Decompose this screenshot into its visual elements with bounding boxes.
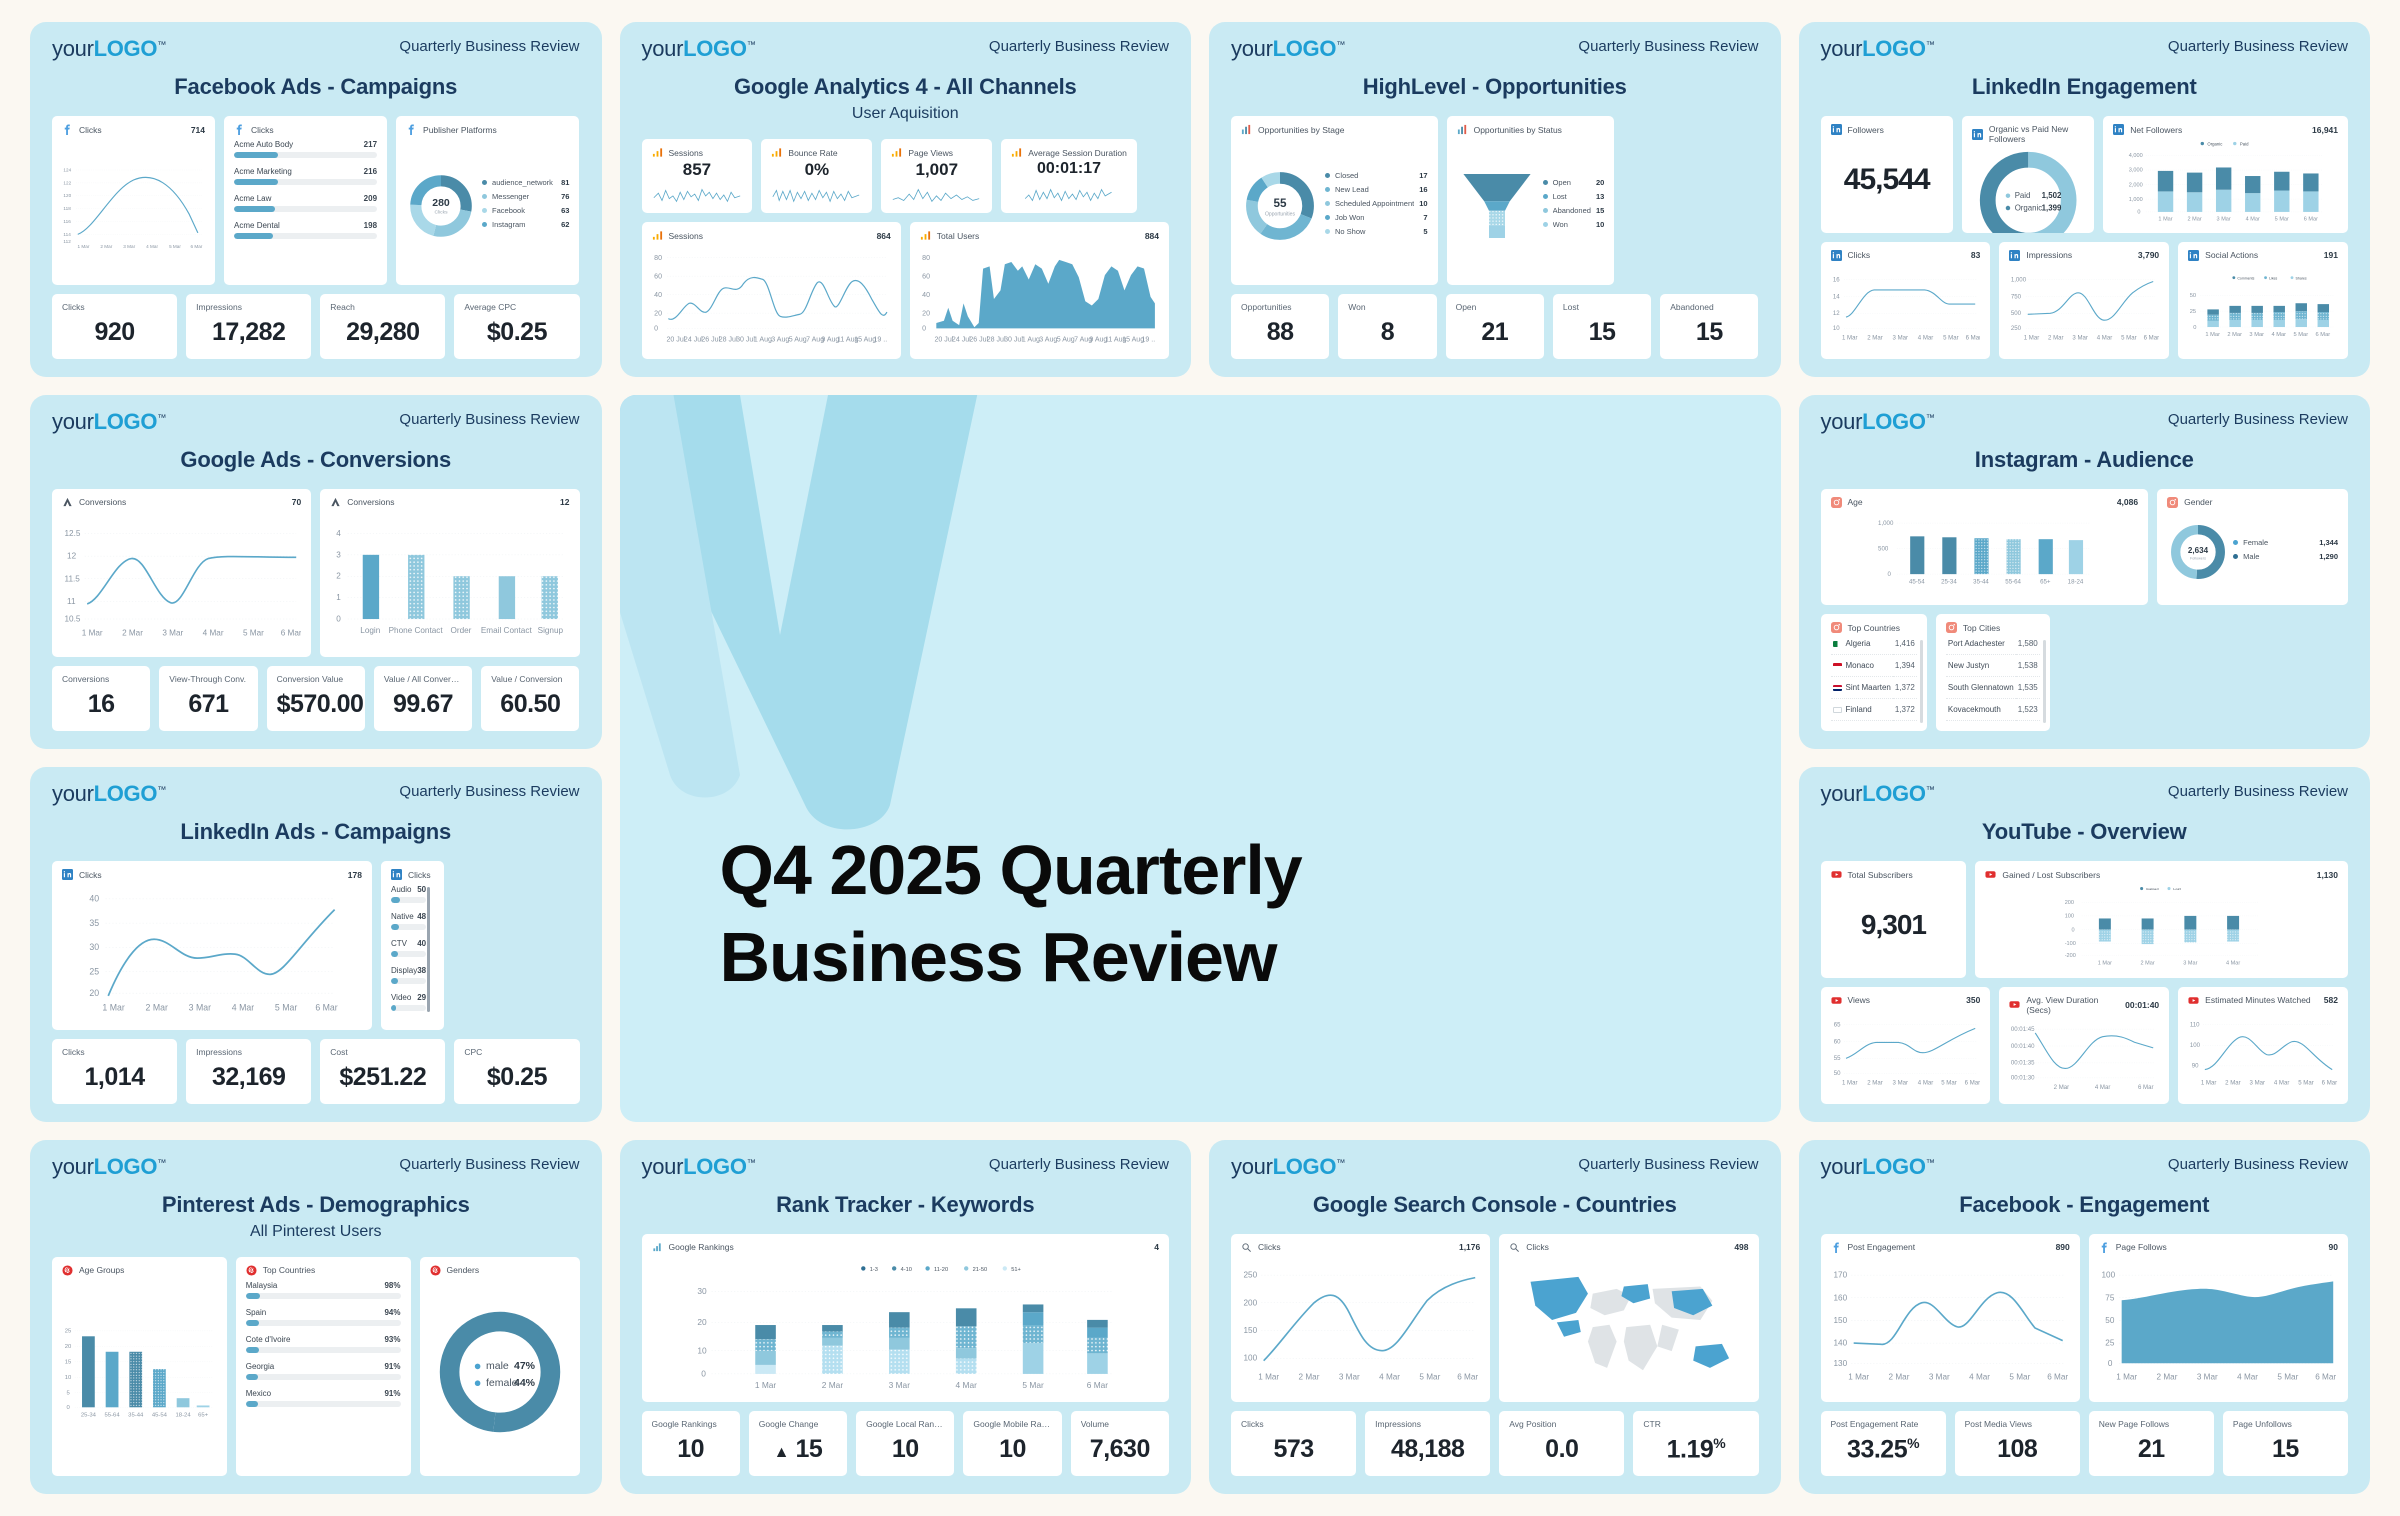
card-header: yourLOGO™ Quarterly Business Review bbox=[1821, 38, 2349, 60]
card-highlevel-opportunities[interactable]: yourLOGO™ Quarterly Business Review High… bbox=[1209, 22, 1781, 377]
kpi-row: Clicks920 Impressions17,282 Reach29,280 … bbox=[52, 294, 580, 359]
panel-value: 890 bbox=[2056, 1242, 2070, 1252]
kpi-label: Post Media Views bbox=[1965, 1419, 2070, 1429]
svg-text:00:01:40: 00:01:40 bbox=[2011, 1043, 2035, 1050]
kpi-value: 48,188 bbox=[1375, 1435, 1480, 1464]
report-label: Quarterly Business Review bbox=[2168, 38, 2348, 55]
kpi-value: 671 bbox=[169, 690, 247, 719]
card-google-search-console-countries[interactable]: yourLOGO™ Quarterly Business Review Goog… bbox=[1209, 1140, 1781, 1495]
svg-text:130: 130 bbox=[1833, 1358, 1847, 1367]
kpi-tile[interactable]: Clicks920 bbox=[52, 294, 177, 359]
panel-title: Top Countries bbox=[263, 1265, 315, 1275]
card-header: yourLOGO™ Quarterly Business Review bbox=[1231, 1156, 1759, 1178]
svg-text:1,000: 1,000 bbox=[1878, 520, 1894, 527]
panel-sessions-line[interactable]: Sessions864 806040200 20 Jul24 Jul26 Jul… bbox=[642, 222, 901, 359]
svg-text:250: 250 bbox=[2011, 325, 2022, 332]
svg-text:6 Mar: 6 Mar bbox=[2304, 216, 2318, 222]
instagram-icon bbox=[1831, 622, 1842, 633]
legend-label: Likes bbox=[2269, 276, 2277, 280]
svg-text:5 Mar: 5 Mar bbox=[169, 244, 181, 249]
legend-value: 10 bbox=[1419, 199, 1427, 208]
pinterest-icon bbox=[62, 1265, 73, 1276]
legend-label: Male bbox=[2243, 552, 2314, 561]
total-users-area-chart: 806040200 20 Jul24 Jul26 Jul28 Jul30 Jul… bbox=[920, 241, 1159, 351]
svg-text:2 Mar: 2 Mar bbox=[821, 1380, 843, 1390]
panel-row: Google Rankings4 1-3 4-10 11-20 21-50 51… bbox=[642, 1234, 1170, 1403]
kpi-label: CPC bbox=[464, 1047, 569, 1057]
svg-text:6 Mar: 6 Mar bbox=[315, 1003, 337, 1013]
kpi-tile[interactable]: Opportunities88 bbox=[1231, 294, 1329, 359]
svg-text:5 Mar: 5 Mar bbox=[275, 1003, 297, 1013]
kpi-tile[interactable]: Open21 bbox=[1446, 294, 1544, 359]
svg-text:55-64: 55-64 bbox=[2005, 578, 2021, 585]
panel-conversions-bars[interactable]: Conversions12 43210 LoginPhone ContactOr… bbox=[320, 489, 579, 658]
svg-text:3 Mar: 3 Mar bbox=[2197, 1372, 2218, 1381]
kpi-tile[interactable]: Avg Position0.0 bbox=[1499, 1411, 1624, 1476]
kpi-value: 21 bbox=[1456, 318, 1534, 347]
kpi-label: Avg Position bbox=[1509, 1419, 1614, 1429]
kpi-tile[interactable]: Conversion Value$570.00 bbox=[267, 666, 365, 731]
logo: yourLOGO™ bbox=[52, 411, 166, 433]
panel-clicks-line[interactable]: Clicks 714 124122120 118116114112 bbox=[52, 116, 215, 285]
kpi-label: Page Unfollows bbox=[2233, 1419, 2338, 1429]
kpi-tile[interactable]: Post Engagement Rate33.25% bbox=[1821, 1411, 1946, 1476]
svg-text:1 Mar: 1 Mar bbox=[1841, 1079, 1857, 1086]
svg-text:100: 100 bbox=[1244, 1353, 1258, 1362]
page-subtitle: User Aquisition bbox=[642, 105, 1170, 123]
svg-text:4 Mar: 4 Mar bbox=[1917, 1079, 1933, 1086]
panel-page-views-kpi[interactable]: Page Views 1,007 bbox=[881, 139, 992, 213]
estimated-minutes-line-chart: 11010090 1 Mar2 Mar3 Mar4 Mar5 Mar6 Mar bbox=[2188, 1006, 2338, 1096]
panel-opportunities-by-stage[interactable]: Opportunities by Stage 55 Opportunities … bbox=[1231, 116, 1438, 285]
panel-conversions-line[interactable]: Conversions70 12.51211.51110.5 1 Mar2 Ma… bbox=[52, 489, 311, 658]
panel-clicks-bars[interactable]: Clicks Acme Auto Body217 Acme Marketing2… bbox=[224, 116, 387, 285]
legend-label: New Lead bbox=[1335, 185, 1414, 194]
panel-gender-donut[interactable]: Gender 2,634 Followers Female1,344 Male1… bbox=[2157, 489, 2348, 606]
card-google-ads-conversions[interactable]: yourLOGO™ Quarterly Business Review Goog… bbox=[30, 395, 602, 750]
kpi-tile[interactable]: Google Rankings10 bbox=[642, 1411, 740, 1476]
svg-text:4 Mar: 4 Mar bbox=[2246, 216, 2260, 222]
svg-text:25-34: 25-34 bbox=[81, 1412, 97, 1418]
legend-label: Scheduled Appointment bbox=[1335, 199, 1414, 208]
donut-center-value: 280 bbox=[432, 197, 450, 209]
kpi-label: Impressions bbox=[1375, 1419, 1480, 1429]
kpi-tile[interactable]: Post Media Views108 bbox=[1955, 1411, 2080, 1476]
linkedin-icon bbox=[2188, 250, 2199, 261]
svg-text:3 Mar: 3 Mar bbox=[2250, 1079, 2266, 1086]
panel-value: 90 bbox=[2329, 1242, 2338, 1252]
svg-text:1 Mar: 1 Mar bbox=[2024, 334, 2040, 341]
panel-clicks-bars[interactable]: Clicks Audio50 Native48 CTV40 Display38 … bbox=[381, 861, 444, 1030]
svg-text:3 Mar: 3 Mar bbox=[1892, 1079, 1908, 1086]
panel-publisher-platforms[interactable]: Publisher Platforms 280 Clicks audience_… bbox=[396, 116, 579, 285]
legend-value: 7 bbox=[1423, 213, 1427, 222]
svg-text:4 Mar: 4 Mar bbox=[2097, 334, 2113, 341]
card-instagram-audience[interactable]: yourLOGO™ Quarterly Business Review Inst… bbox=[1799, 395, 2371, 750]
panel-clicks-line[interactable]: Clicks83 16141210 1 Mar2 Mar3 Mar4 Mar5 … bbox=[1821, 242, 1991, 359]
funnel-legend: Open20 Lost13 Abandoned15 Won10 bbox=[1543, 178, 1605, 234]
kpi-tile[interactable]: Abandoned15 bbox=[1660, 294, 1758, 359]
kpi-tile[interactable]: New Page Follows21 bbox=[2089, 1411, 2214, 1476]
bar-label: Cote d'Ivoire bbox=[246, 1335, 291, 1344]
svg-text:1 Mar: 1 Mar bbox=[2116, 1372, 2137, 1381]
panel-title: Conversions bbox=[347, 497, 394, 507]
legend-value: 16 bbox=[1419, 185, 1427, 194]
panel-impressions-line[interactable]: Impressions3,790 1,000750500250 1 Mar2 M… bbox=[1999, 242, 2169, 359]
svg-text:40: 40 bbox=[89, 894, 99, 904]
panel-clicks-line[interactable]: Clicks178 4035302520 1 Mar2 Mar3 Mar4 Ma… bbox=[52, 861, 372, 1030]
country-cell: Algeria bbox=[1831, 633, 1893, 655]
panel-title: Avg. View Duration (Secs) bbox=[2026, 995, 2119, 1015]
panel-social-actions[interactable]: Social Actions191 CommentsLikesShares 50… bbox=[2178, 242, 2348, 359]
kpi-tile[interactable]: Value / Conversion60.50 bbox=[481, 666, 579, 731]
kpi-label: Value / All Conversion bbox=[384, 674, 462, 684]
bar-label: Georgia bbox=[246, 1362, 274, 1371]
panel-estimated-minutes-watched[interactable]: Estimated Minutes Watched582 11010090 1 … bbox=[2178, 987, 2348, 1104]
scrollbar[interactable] bbox=[427, 887, 430, 1012]
svg-text:30: 30 bbox=[697, 1286, 707, 1296]
svg-text:2: 2 bbox=[337, 571, 342, 580]
svg-text:4,000: 4,000 bbox=[2129, 153, 2143, 159]
panel-value: 857 bbox=[652, 160, 743, 180]
kpi-label: CTR bbox=[1643, 1419, 1748, 1429]
kpi-tile[interactable]: Average CPC$0.25 bbox=[454, 294, 579, 359]
legend-label: Closed bbox=[1335, 171, 1414, 180]
facebook-icon bbox=[234, 124, 245, 135]
svg-text:5 Mar: 5 Mar bbox=[2009, 1372, 2030, 1381]
svg-text:6 Mar: 6 Mar bbox=[2144, 334, 2159, 341]
gender-donut: 2,634 Followers bbox=[2167, 521, 2229, 583]
svg-text:-100: -100 bbox=[2065, 941, 2076, 947]
legend-value: 76 bbox=[561, 192, 569, 201]
world-map bbox=[1509, 1253, 1748, 1394]
report-label: Quarterly Business Review bbox=[399, 783, 579, 800]
kpi-row: Opportunities88 Won8 Open21 Lost15 Aband… bbox=[1231, 294, 1759, 359]
panel-avg-view-duration-line[interactable]: Avg. View Duration (Secs)00:01:40 00:01:… bbox=[1999, 987, 2169, 1104]
panel-value: 4 bbox=[1154, 1242, 1159, 1252]
panel-page-follows-area[interactable]: Page Follows90 1007550250 1 Mar2 Mar3 Ma… bbox=[2089, 1234, 2348, 1402]
svg-text:1 Mar: 1 Mar bbox=[102, 1003, 124, 1013]
panel-genders-donut[interactable]: Genders male47% female44% bbox=[420, 1257, 580, 1477]
facebook-icon bbox=[1831, 1242, 1842, 1253]
panel-top-cities-table[interactable]: Top Cities Port Adachester1,580 New Just… bbox=[1936, 614, 2050, 731]
kpi-value: 99.67 bbox=[384, 690, 462, 719]
panel-title: Clicks bbox=[251, 125, 274, 135]
card-pinterest-ads-demographics[interactable]: yourLOGO™ Quarterly Business Review Pint… bbox=[30, 1140, 602, 1495]
svg-text:2 Mar: 2 Mar bbox=[1867, 334, 1883, 341]
donut-center-value: 55 bbox=[1273, 197, 1287, 210]
bar-value: 217 bbox=[364, 140, 377, 149]
sessions-line-chart: 806040200 20 Jul24 Jul26 Jul28 Jul30 Jul… bbox=[652, 241, 891, 351]
panel-clicks-line[interactable]: Clicks1,176 250200150100 1 Mar2 Mar3 Mar… bbox=[1231, 1234, 1490, 1402]
kpi-tile[interactable]: Clicks1,014 bbox=[52, 1039, 177, 1104]
svg-text:4 Mar: 4 Mar bbox=[2274, 1079, 2290, 1086]
kpi-value: 10 bbox=[973, 1435, 1051, 1464]
panel-organic-vs-paid[interactable]: Organic vs Paid New Followers Paid1,502 … bbox=[1962, 116, 2094, 233]
kpi-label: Impressions bbox=[196, 302, 301, 312]
card-youtube-overview[interactable]: yourLOGO™ Quarterly Business Review YouT… bbox=[1799, 767, 2371, 1122]
svg-text:1 Mar: 1 Mar bbox=[754, 1380, 776, 1390]
kpi-tile[interactable]: Lost15 bbox=[1553, 294, 1651, 359]
list-item: Malaysia98% bbox=[246, 1281, 401, 1299]
bar-value: 93% bbox=[384, 1335, 400, 1344]
svg-text:60: 60 bbox=[654, 273, 662, 280]
kpi-tile[interactable]: Google Change▲ 15 bbox=[749, 1411, 847, 1476]
svg-text:35: 35 bbox=[89, 918, 99, 928]
card-facebook-ads-campaigns[interactable]: yourLOGO™ Quarterly Business Review Face… bbox=[30, 22, 602, 377]
svg-text:10: 10 bbox=[65, 1375, 72, 1381]
svg-text:2 Mar: 2 Mar bbox=[1299, 1372, 1320, 1381]
panel-row: Age Groups 2520151050 25-3455-6435-4445-… bbox=[52, 1257, 580, 1477]
page-subtitle: All Pinterest Users bbox=[52, 1223, 580, 1241]
panel-title: Clicks bbox=[1848, 250, 1871, 260]
legend-label: Instagram bbox=[492, 220, 556, 229]
panel-title: Clicks bbox=[1258, 1242, 1281, 1252]
country-cell: Finland bbox=[1831, 699, 1893, 721]
svg-text:3 Mar: 3 Mar bbox=[2073, 334, 2089, 341]
kpi-tile[interactable]: Volume7,630 bbox=[1071, 1411, 1169, 1476]
svg-text:-200: -200 bbox=[2065, 953, 2076, 959]
panel-google-rankings[interactable]: Google Rankings4 1-3 4-10 11-20 21-50 51… bbox=[642, 1234, 1170, 1403]
panel-row: Clicks1,176 250200150100 1 Mar2 Mar3 Mar… bbox=[1231, 1234, 1759, 1402]
list-item: Audio50 bbox=[391, 885, 426, 903]
panel-opportunities-by-status[interactable]: Opportunities by Status Open20 Lost13 Ab… bbox=[1447, 116, 1615, 285]
svg-text:0: 0 bbox=[2193, 325, 2196, 331]
legend-value: 20 bbox=[1596, 178, 1604, 187]
svg-text:1 Mar: 1 Mar bbox=[2159, 216, 2173, 222]
panel-title: Google Rankings bbox=[669, 1242, 734, 1252]
panel-top-countries-table[interactable]: Top Countries Algeria1,416 Monaco1,394 S… bbox=[1821, 614, 1927, 731]
conversions-line-chart: 12.51211.51110.5 1 Mar2 Mar3 Mar4 Mar5 M… bbox=[62, 508, 301, 650]
legend-label: Paid bbox=[2015, 191, 2031, 200]
bar-label: Native bbox=[391, 912, 414, 921]
legend-label: Paid bbox=[2240, 141, 2249, 146]
kpi-value: 16 bbox=[62, 690, 140, 719]
panel-avg-session-duration-kpi[interactable]: Average Session Duration 00:01:17 bbox=[1001, 139, 1137, 213]
svg-text:0: 0 bbox=[2072, 927, 2075, 933]
panel-total-subscribers-kpi[interactable]: Total Subscribers 9,301 bbox=[1821, 861, 1967, 978]
gained-lost-bar-chart: GainedLost 2001000-100-200 1 Mar2 Mar3 M… bbox=[1985, 880, 2338, 970]
legend-value: 1,290 bbox=[2319, 552, 2338, 561]
panel-value: 714 bbox=[191, 125, 205, 135]
panel-value: 1,007 bbox=[891, 160, 982, 180]
panel-sessions-kpi[interactable]: Sessions 857 bbox=[642, 139, 753, 213]
panel-value: 45,544 bbox=[1831, 135, 1943, 225]
kpi-tile[interactable]: View-Through Conv.671 bbox=[159, 666, 257, 731]
legend-label: Organic bbox=[2208, 141, 2224, 146]
svg-text:1 Mar: 1 Mar bbox=[2206, 332, 2221, 338]
panel-gained-lost-subscribers[interactable]: Gained / Lost Subscribers1,130 GainedLos… bbox=[1975, 861, 2348, 978]
bar-label: CTV bbox=[391, 939, 407, 948]
svg-text:30: 30 bbox=[89, 942, 99, 952]
logo: yourLOGO™ bbox=[52, 783, 166, 805]
top-countries-table: Algeria1,416 Monaco1,394 Sint Maarten1,3… bbox=[1831, 633, 1917, 721]
panel-value: 83 bbox=[1971, 250, 1980, 260]
card-rank-tracker-keywords[interactable]: yourLOGO™ Quarterly Business Review Rank… bbox=[620, 1140, 1192, 1495]
panel-views-line[interactable]: Views350 65605550 1 Mar2 Mar3 Mar4 Mar5 … bbox=[1821, 987, 1991, 1104]
panel-title: Opportunities by Status bbox=[1474, 125, 1562, 135]
page-title: Google Analytics 4 - All Channels bbox=[642, 74, 1170, 100]
legend-label: Messenger bbox=[492, 192, 556, 201]
kpi-tile[interactable]: Conversions16 bbox=[52, 666, 150, 731]
card-header: yourLOGO™ Quarterly Business Review bbox=[52, 38, 580, 60]
kpi-label: Google Change bbox=[759, 1419, 837, 1429]
legend-label: 1-3 bbox=[869, 1267, 877, 1273]
svg-text:2 Mar: 2 Mar bbox=[2156, 1372, 2177, 1381]
svg-text:140: 140 bbox=[1833, 1338, 1847, 1347]
hero-title: Q4 2025 QuarterlyBusiness Review bbox=[720, 827, 1400, 1002]
google-ads-icon bbox=[330, 497, 341, 508]
svg-text:120: 120 bbox=[63, 193, 71, 198]
svg-text:4 Mar: 4 Mar bbox=[1917, 334, 1933, 341]
svg-text:114: 114 bbox=[63, 232, 71, 237]
hero-title-panel: Q4 2025 QuarterlyBusiness Review bbox=[620, 395, 1781, 1122]
svg-text:4: 4 bbox=[337, 528, 342, 537]
pinterest-icon bbox=[430, 1265, 441, 1276]
panel-bounce-rate-kpi[interactable]: Bounce Rate 0% bbox=[761, 139, 872, 213]
svg-text:35-44: 35-44 bbox=[128, 1412, 144, 1418]
instagram-icon bbox=[2167, 497, 2178, 508]
svg-text:6 Mar: 6 Mar bbox=[281, 628, 302, 637]
panel-title: Estimated Minutes Watched bbox=[2205, 995, 2311, 1005]
card-linkedin-ads-campaigns[interactable]: yourLOGO™ Quarterly Business Review Link… bbox=[30, 767, 602, 1122]
svg-text:1 Mar: 1 Mar bbox=[2098, 961, 2112, 967]
kpi-tile[interactable]: Won8 bbox=[1338, 294, 1436, 359]
kpi-value: 8 bbox=[1348, 318, 1426, 347]
panel-total-users-area[interactable]: Total Users884 806040200 20 Jul24 Jul26 … bbox=[910, 222, 1169, 359]
legend-label: Open bbox=[1553, 178, 1591, 187]
legend-label: Shares bbox=[2296, 276, 2307, 280]
table-row: Port Adachester1,580 bbox=[1946, 633, 2040, 655]
legend-label: male bbox=[486, 1360, 509, 1372]
svg-text:3: 3 bbox=[337, 550, 342, 559]
svg-text:40: 40 bbox=[922, 292, 930, 299]
panel-age-groups-bars[interactable]: Age Groups 2520151050 25-3455-6435-4445-… bbox=[52, 1257, 227, 1477]
svg-text:00:01:45: 00:01:45 bbox=[2011, 1026, 2035, 1033]
bar-value: 29 bbox=[417, 993, 426, 1002]
panel-age-bars[interactable]: Age4,086 1,0005000 45-5425-3435-4455-646… bbox=[1821, 489, 2149, 606]
kpi-tile[interactable]: Clicks573 bbox=[1231, 1411, 1356, 1476]
panel-post-engagement-line[interactable]: Post Engagement890 170160150140130 1 Mar… bbox=[1821, 1234, 2080, 1402]
bar-label: Audio bbox=[391, 885, 411, 894]
page-follows-area-chart: 1007550250 1 Mar2 Mar3 Mar4 Mar5 Mar6 Ma… bbox=[2099, 1253, 2338, 1394]
panel-title: Top Cities bbox=[1963, 623, 2000, 633]
legend-value: 44% bbox=[514, 1377, 536, 1389]
card-header: yourLOGO™ Quarterly Business Review bbox=[1821, 411, 2349, 433]
report-label: Quarterly Business Review bbox=[399, 1156, 579, 1173]
card-linkedin-engagement[interactable]: yourLOGO™ Quarterly Business Review Link… bbox=[1799, 22, 2371, 377]
kpi-tile[interactable]: Reach29,280 bbox=[320, 294, 445, 359]
instagram-icon bbox=[1831, 497, 1842, 508]
panel-title: Bounce Rate bbox=[788, 148, 837, 158]
panel-title: Clicks bbox=[79, 870, 102, 880]
svg-text:50: 50 bbox=[2105, 1315, 2115, 1324]
decorative-swoosh bbox=[620, 395, 1070, 835]
card-google-analytics-4-all-channels[interactable]: yourLOGO™ Quarterly Business Review Goog… bbox=[620, 22, 1192, 377]
svg-text:25: 25 bbox=[65, 1328, 72, 1334]
age-bar-chart: 1,0005000 45-5425-3435-4455-6465+18-24 bbox=[1831, 508, 2139, 598]
report-label: Quarterly Business Review bbox=[399, 38, 579, 55]
kpi-row: Google Rankings10 Google Change▲ 15 Goog… bbox=[642, 1411, 1170, 1476]
svg-text:2 Mar: 2 Mar bbox=[2188, 216, 2202, 222]
kpi-value: 108 bbox=[1965, 1435, 2070, 1464]
panel-followers-kpi[interactable]: Followers 45,544 bbox=[1821, 116, 1953, 233]
panel-row-bottom: Clicks83 16141210 1 Mar2 Mar3 Mar4 Mar5 … bbox=[1821, 242, 2349, 359]
svg-text:4 Mar: 4 Mar bbox=[1969, 1372, 1990, 1381]
svg-text:50: 50 bbox=[2190, 293, 2196, 299]
card-header: yourLOGO™ Quarterly Business Review bbox=[1231, 38, 1759, 60]
kpi-value: $0.25 bbox=[464, 318, 569, 347]
svg-text:28 Jul: 28 Jul bbox=[718, 336, 737, 343]
kpi-tile[interactable]: Cost$251.22 bbox=[320, 1039, 445, 1104]
kpi-tile[interactable]: Impressions32,169 bbox=[186, 1039, 311, 1104]
card-facebook-engagement[interactable]: yourLOGO™ Quarterly Business Review Face… bbox=[1799, 1140, 2371, 1495]
legend-label: Lost bbox=[2174, 886, 2182, 891]
google-rankings-bar-chart: 1-3 4-10 11-20 21-50 51+ 3020100 bbox=[652, 1253, 1160, 1395]
scrollbar[interactable] bbox=[2043, 640, 2046, 723]
scrollbar[interactable] bbox=[1920, 640, 1923, 723]
svg-text:3 Mar: 3 Mar bbox=[1339, 1372, 1360, 1381]
panel-value: 70 bbox=[292, 497, 301, 507]
bar-value: 94% bbox=[384, 1308, 400, 1317]
svg-text:5 Mar: 5 Mar bbox=[2275, 216, 2289, 222]
panel-row-top: Age4,086 1,0005000 45-5425-3435-4455-646… bbox=[1821, 489, 2349, 606]
avg-view-duration-chart: 00:01:4500:01:4000:01:3500:01:30 2 Mar4 … bbox=[2009, 1015, 2159, 1096]
ga4-icon bbox=[652, 230, 663, 241]
svg-text:3 Aug: 3 Aug bbox=[771, 336, 789, 343]
legend-label: 4-10 bbox=[900, 1267, 911, 1273]
page-title: Pinterest Ads - Demographics bbox=[52, 1192, 580, 1218]
svg-text:Login: Login bbox=[361, 625, 381, 634]
panel-title: Age Groups bbox=[79, 1265, 124, 1275]
kpi-tile[interactable]: Page Unfollows15 bbox=[2223, 1411, 2348, 1476]
panel-row: Clicks 714 124122120 118116114112 bbox=[52, 116, 580, 285]
panel-top-countries-bars[interactable]: Top Countries Malaysia98% Spain94% Cote … bbox=[236, 1257, 411, 1477]
kpi-label: Volume bbox=[1081, 1419, 1159, 1429]
svg-text:112: 112 bbox=[63, 239, 71, 244]
kpi-tile[interactable]: Impressions48,188 bbox=[1365, 1411, 1490, 1476]
kpi-tile[interactable]: Google Mobile Rankings10 bbox=[963, 1411, 1061, 1476]
panel-header: Clicks bbox=[234, 124, 377, 135]
kpi-row: Post Engagement Rate33.25% Post Media Vi… bbox=[1821, 1411, 2349, 1476]
legend-label: Organic bbox=[2015, 203, 2043, 212]
kpi-tile[interactable]: CPC$0.25 bbox=[454, 1039, 579, 1104]
kpi-tile[interactable]: CTR1.19% bbox=[1633, 1411, 1758, 1476]
kpi-row: Conversions16 View-Through Conv.671 Conv… bbox=[52, 666, 580, 731]
highlevel-icon bbox=[1241, 124, 1252, 135]
panel-clicks-map[interactable]: Clicks498 bbox=[1499, 1234, 1758, 1402]
kpi-value: 88 bbox=[1241, 318, 1319, 347]
panel-title: Page Follows bbox=[2116, 1242, 2167, 1252]
kpi-tile[interactable]: Impressions17,282 bbox=[186, 294, 311, 359]
svg-text:2 Mar: 2 Mar bbox=[122, 628, 143, 637]
list-item: Video29 bbox=[391, 993, 426, 1011]
kpi-value: 29,280 bbox=[330, 318, 435, 347]
panel-value: 4,086 bbox=[2117, 497, 2138, 507]
svg-text:24 Jul: 24 Jul bbox=[683, 336, 702, 343]
svg-text:Phone Contact: Phone Contact bbox=[389, 625, 444, 634]
svg-text:16: 16 bbox=[1832, 276, 1839, 283]
svg-text:5 Mar: 5 Mar bbox=[1943, 334, 1959, 341]
kpi-row: Clicks1,014 Impressions32,169 Cost$251.2… bbox=[52, 1039, 580, 1104]
svg-text:26 Jul: 26 Jul bbox=[969, 336, 988, 343]
kpi-tile[interactable]: Google Local Rankings10 bbox=[856, 1411, 954, 1476]
table-row: Finland1,372 bbox=[1831, 699, 1917, 721]
kpi-tile[interactable]: Value / All Conversion99.67 bbox=[374, 666, 472, 731]
panel-net-followers[interactable]: Net Followers16,941 OrganicPaid 4,0003,0… bbox=[2103, 116, 2348, 233]
svg-text:4 Mar: 4 Mar bbox=[2272, 332, 2287, 338]
youtube-icon bbox=[1985, 869, 1996, 880]
